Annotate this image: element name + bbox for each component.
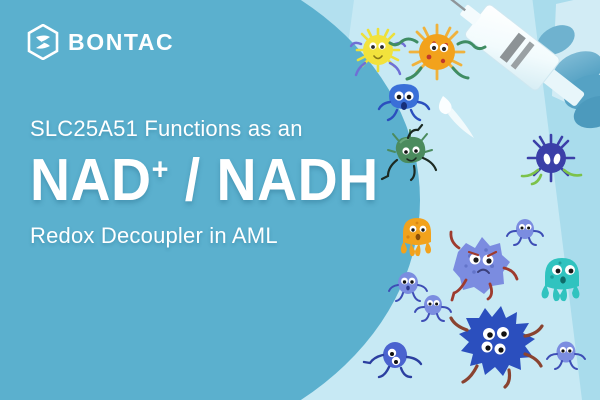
headline-line-3: Redox Decoupler in AML: [30, 223, 370, 248]
banner-image: BONTAC SLC25A51 Functions as an NAD+ / N…: [0, 0, 600, 400]
headline-main: NAD+ / NADH: [30, 150, 350, 210]
hexagon-leaf-icon: [27, 24, 59, 60]
headline-block: SLC25A51 Functions as an NAD+ / NADH Red…: [30, 116, 370, 249]
headline-line-1: SLC25A51 Functions as an: [30, 116, 370, 141]
headline-main-separator: /: [185, 147, 201, 213]
brand-name: BONTAC: [68, 31, 174, 54]
headline-main-superscript: +: [152, 152, 169, 187]
brand-logo: BONTAC: [27, 24, 174, 60]
headline-main-nad: NAD: [30, 147, 152, 213]
headline-main-nadh: NADH: [217, 147, 379, 213]
